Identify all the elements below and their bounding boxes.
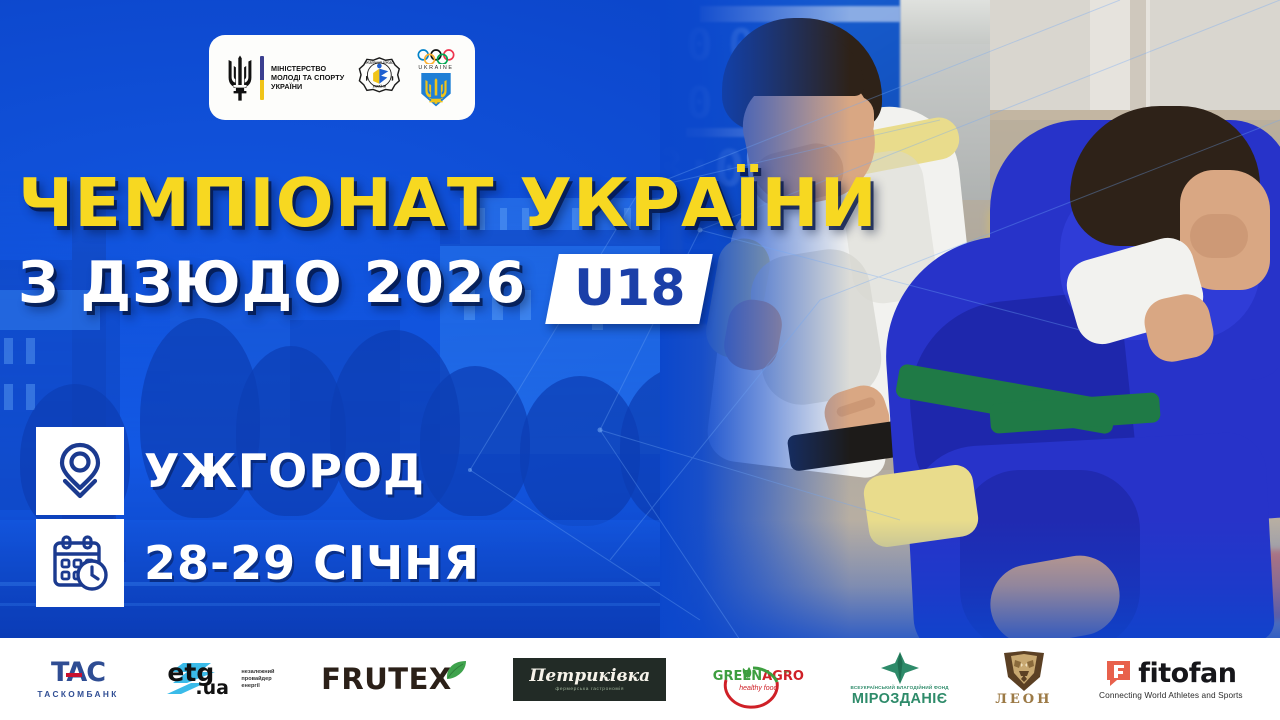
svg-text:™: ™ [783,670,789,677]
olympic-rings-icon [415,49,457,65]
fitofan-logo-icon [1105,659,1132,689]
event-details: УЖГОРОД 28-29 СІЧНЯ [36,427,480,607]
location-pin-icon [54,442,106,500]
sponsor-greenagro[interactable]: ™ GREEN AGRO healthy food [713,667,804,692]
mirozdaniye-label: МІРОЗДАНІЄ [852,691,948,707]
organizer-logo-bar: МІНІСТЕРСТВО МОЛОДІ ТА СПОРТУ УКРАЇНИ УК… [209,35,475,120]
sponsor-fitofan[interactable]: fitofan Connecting World Athletes and Sp… [1099,659,1243,700]
event-location-row: УЖГОРОД [36,427,480,515]
ministry-text-block: МІНІСТЕРСТВО МОЛОДІ ТА СПОРТУ УКРАЇНИ [271,64,344,92]
taskombank-logo-icon: TAC [51,659,105,686]
fitofan-label: fitofan [1138,660,1236,688]
ministry-logo: МІНІСТЕРСТВО МОЛОДІ ТА СПОРТУ УКРАЇНИ [227,55,344,101]
event-poster: 0 0 0 0 3:0 [0,0,1280,720]
age-category-label: U18 [574,260,686,316]
event-date-row: 28-29 СІЧНЯ [36,519,480,607]
event-dates: 28-29 СІЧНЯ [144,538,480,588]
calendar-icon-box [36,519,124,607]
olympic-committee-logo: UKRAINE [415,49,457,107]
sponsor-taskombank[interactable]: TAC ТАСКОМБАНК [37,659,118,699]
page-title: ЧЕМПІОНАТ УКРАЇНИ [18,168,878,238]
taskombank-label: ТАСКОМБАНК [37,689,118,699]
olympic-label: UKRAINE [418,65,453,71]
ukraine-trident-icon [227,55,253,101]
sponsor-mirozdaniye[interactable]: ВСЕУКРАЇНСЬКИЙ БЛАГОДІЙНИЙ ФОНД МІРОЗДАН… [851,652,949,707]
page-subtitle: З ДЗЮДО 2026 [18,252,526,314]
judo-federation-seal-icon: УКРАЇНИ ФЕДЕРАЦІЯ ДЗЮДО [358,54,401,101]
location-icon-box [36,427,124,515]
etg-ua-logo-icon: etg .ua [165,659,237,699]
sponsor-bar: TAC ТАСКОМБАНК etg .ua незалежний провай… [0,638,1280,720]
ministry-line-1: МІНІСТЕРСТВО [271,64,344,73]
petrykivka-tagline: фермерська гастрономія [555,687,624,692]
ministry-line-3: УКРАЇНИ [271,82,344,91]
frutex-leaf-icon [445,660,467,686]
etg-domain: .ua [195,677,229,699]
svg-text:УКРАЇНИ: УКРАЇНИ [373,85,387,89]
mirozdaniye-tagline: ВСЕУКРАЇНСЬКИЙ БЛАГОДІЙНИЙ ФОНД [851,685,949,690]
sponsor-frutex[interactable]: FRUTEX [321,660,467,698]
frutex-label: FRUTEX [321,664,452,694]
mirozdaniye-leaf-icon [878,652,922,684]
ministry-divider [260,56,264,100]
headline-block: ЧЕМПІОНАТ УКРАЇНИ З ДЗЮДО 2026 U18 [18,168,861,324]
svg-text:ФЕДЕРАЦІЯ ДЗЮДО: ФЕДЕРАЦІЯ ДЗЮДО [365,60,394,64]
age-category-badge: U18 [545,254,712,324]
sponsor-petrykivka[interactable]: Петриківка фермерська гастрономія [513,658,666,701]
leon-lion-icon [1001,651,1047,691]
ukraine-trident-shield-icon [421,73,451,106]
leon-label: ЛЕОН [995,692,1052,707]
greenagro-logo-icon: ™ [713,665,791,719]
calendar-clock-icon [51,535,109,591]
fitofan-tagline: Connecting World Athletes and Sports [1099,690,1243,700]
event-city: УЖГОРОД [144,446,425,496]
ministry-line-2: МОЛОДІ ТА СПОРТУ [271,73,344,82]
sponsor-leon[interactable]: ЛЕОН [995,651,1052,707]
petrykivka-label: Петриківка [529,667,650,686]
etg-tagline: незалежний провайдер енергії [241,669,274,690]
sponsor-etg-ua[interactable]: etg .ua незалежний провайдер енергії [165,659,274,699]
